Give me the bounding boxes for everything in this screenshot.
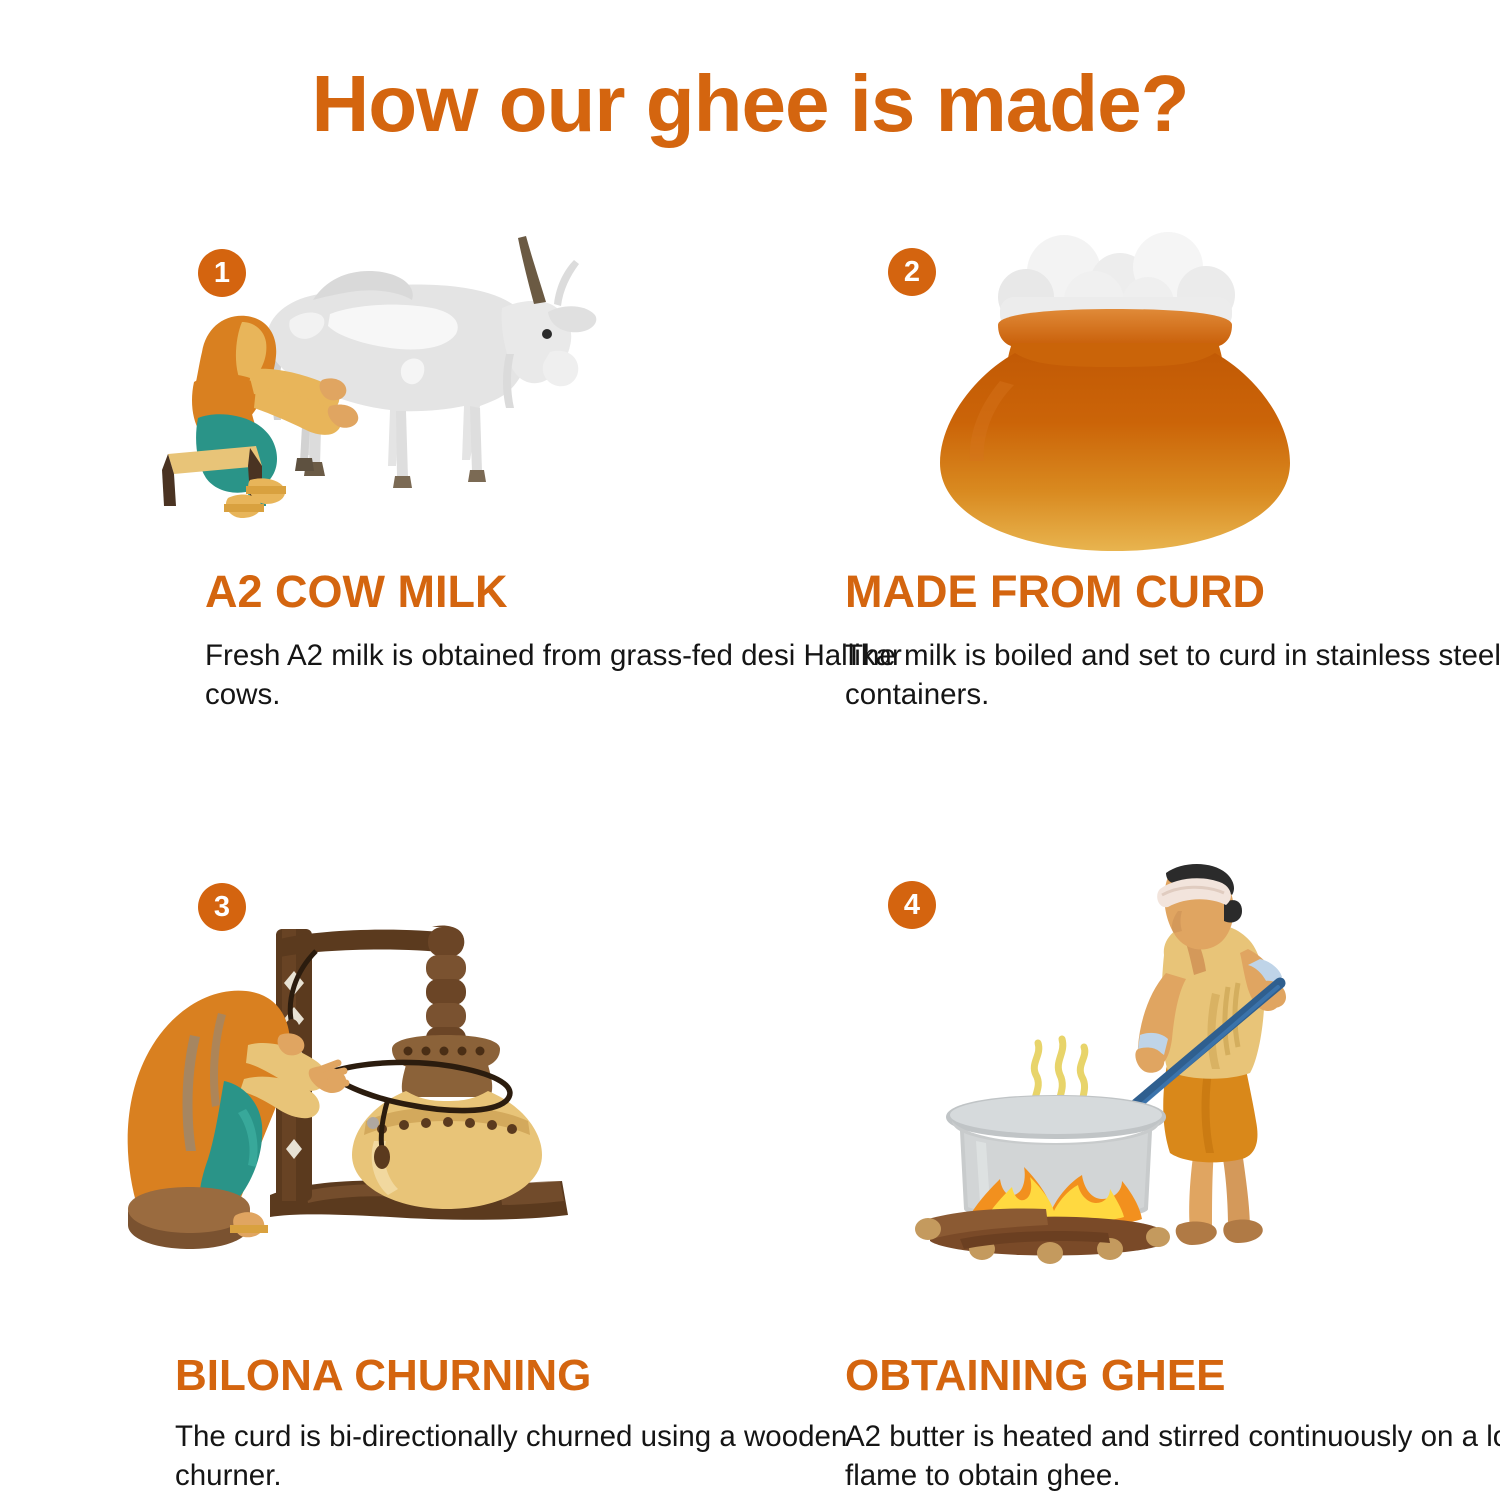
infographic-page: How our ghee is made? — [0, 0, 1500, 1500]
step-card-4: 4 OBTAINING GHEE A2 butter is heated and… — [750, 863, 1500, 1500]
step-badge-2: 2 — [888, 248, 936, 296]
woman-bilona-churner-illustration — [120, 873, 640, 1273]
step-text-4: OBTAINING GHEE A2 butter is heated and s… — [845, 1353, 1500, 1496]
step-card-3: 3 BILONA CHURNING The curd is bi-directi… — [0, 863, 750, 1500]
page-title: How our ghee is made? — [0, 60, 1500, 148]
step-badge-3: 3 — [198, 883, 246, 931]
step-body-2: The milk is boiled and set to curd in st… — [845, 636, 1500, 714]
step-text-2: MADE FROM CURD The milk is boiled and se… — [845, 568, 1500, 715]
step-heading-4: OBTAINING GHEE — [845, 1353, 1500, 1399]
step-badge-1: 1 — [198, 249, 246, 297]
step-card-1: 1 A2 COW MILK Fresh A2 milk is obtained … — [0, 225, 750, 863]
step-card-2: 2 MADE FROM CURD The milk is boiled and … — [750, 225, 1500, 863]
clay-pot-with-curd-illustration — [880, 225, 1350, 555]
steps-grid: 1 A2 COW MILK Fresh A2 milk is obtained … — [0, 225, 1500, 1500]
step-body-4: A2 butter is heated and stirred continuo… — [845, 1417, 1500, 1495]
step-heading-2: MADE FROM CURD — [845, 568, 1500, 615]
man-stirring-vessel-over-fire-illustration — [860, 863, 1330, 1283]
step-badge-4: 4 — [888, 881, 936, 929]
